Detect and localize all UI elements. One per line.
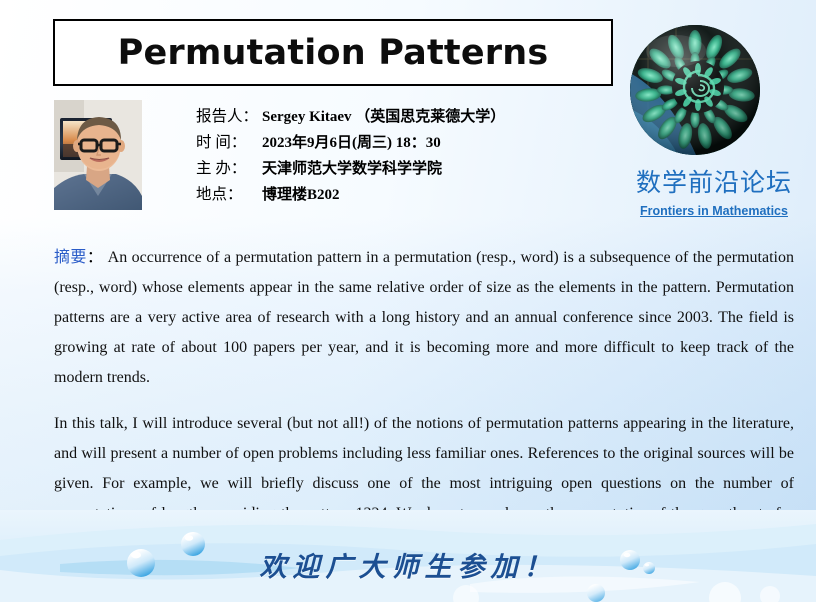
info-value-time: 2023年9月6日(周三) 18：30 bbox=[262, 131, 441, 152]
event-info: 报告人： Sergey Kitaev （英国思克莱德大学） 时 间： 2023年… bbox=[196, 104, 596, 208]
page-title: Permutation Patterns bbox=[118, 33, 549, 73]
info-row: 报告人： Sergey Kitaev （英国思克莱德大学） bbox=[196, 104, 596, 130]
brand-english-title: Frontiers in Mathematics bbox=[616, 204, 812, 218]
info-row: 主 办： 天津师范大学数学科学学院 bbox=[196, 156, 596, 182]
abstract-text-1: An occurrence of a permutation pattern i… bbox=[54, 249, 794, 386]
info-label-time: 时 间： bbox=[196, 130, 262, 152]
welcome-text: 欢迎广大师生参加！ bbox=[0, 545, 816, 584]
poster-background: Permutation Patterns bbox=[0, 0, 816, 602]
title-box: Permutation Patterns bbox=[53, 19, 613, 86]
abstract-colon: ： bbox=[87, 249, 103, 266]
info-row: 时 间： 2023年9月6日(周三) 18：30 bbox=[196, 130, 596, 156]
info-label-organizer: 主 办： bbox=[196, 156, 262, 178]
info-label-location: 地点： bbox=[196, 182, 262, 204]
info-row: 地点： 博理楼B202 bbox=[196, 182, 596, 208]
speaker-photo bbox=[54, 100, 142, 210]
info-value-location: 博理楼B202 bbox=[262, 183, 340, 204]
brand-chinese-title: 数学前沿论坛 bbox=[616, 170, 812, 196]
abstract-paragraph-1: 摘要： An occurrence of a permutation patte… bbox=[54, 243, 794, 393]
info-label-speaker: 报告人： bbox=[196, 104, 262, 126]
info-value-speaker: Sergey Kitaev （英国思克莱德大学） bbox=[262, 105, 505, 126]
fractal-spiral-logo-icon bbox=[630, 25, 760, 155]
fractal-spiral-artwork bbox=[630, 25, 760, 155]
bubble bbox=[587, 584, 605, 602]
bottom-banner: 欢迎广大师生参加！ bbox=[0, 510, 816, 602]
info-value-organizer: 天津师范大学数学科学学院 bbox=[262, 157, 442, 178]
logo-container bbox=[630, 25, 770, 155]
abstract-label: 摘要 bbox=[54, 249, 87, 266]
portrait-illustration bbox=[54, 100, 142, 210]
